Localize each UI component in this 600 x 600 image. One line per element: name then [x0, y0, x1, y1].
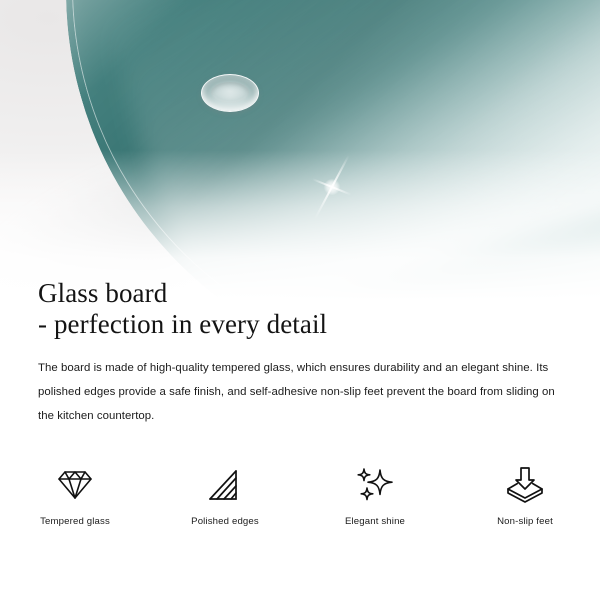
non-slip-foot — [201, 74, 259, 112]
feature-item-non-slip-feet: Non-slip feet — [450, 463, 600, 528]
arrow-down-pad-icon — [504, 463, 546, 507]
text-content: Glass board - perfection in every detail… — [0, 278, 600, 428]
feature-label-elegant-shine: Elegant shine — [345, 516, 405, 528]
product-photo — [0, 0, 600, 300]
product-description-text: The board is made of high-quality temper… — [38, 356, 562, 428]
product-description: The board is made of high-quality temper… — [0, 356, 600, 428]
non-slip-foot-inner — [211, 82, 249, 103]
feature-item-polished-edges: Polished edges — [150, 463, 300, 528]
feature-item-tempered-glass: Tempered glass — [0, 463, 150, 528]
sparkles-icon — [354, 463, 396, 507]
headline-line-2: - perfection in every detail — [38, 309, 562, 340]
feature-item-elegant-shine: Elegant shine — [300, 463, 450, 528]
diamond-icon — [53, 463, 97, 507]
diagonal-lines-icon — [206, 463, 244, 507]
headline-line-1: Glass board — [38, 278, 167, 308]
feature-label-non-slip-feet: Non-slip feet — [497, 516, 553, 528]
feature-list: Tempered glass Polished edges — [0, 463, 600, 528]
product-feature-panel: Glass board - perfection in every detail… — [0, 0, 600, 600]
feature-label-tempered-glass: Tempered glass — [40, 516, 110, 528]
page-title: Glass board - perfection in every detail — [0, 278, 600, 340]
feature-label-polished-edges: Polished edges — [191, 516, 259, 528]
